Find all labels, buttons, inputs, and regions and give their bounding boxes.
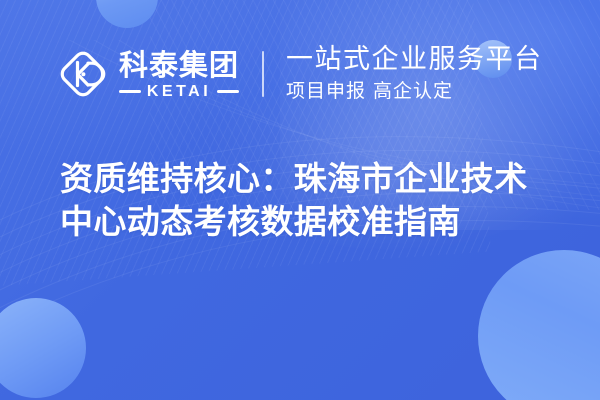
brand-name-en: KETAI xyxy=(147,84,211,100)
brand-rule-right xyxy=(217,90,239,93)
vertical-divider xyxy=(262,51,264,97)
brand-wordmark: 科泰集团 KETAI xyxy=(119,50,239,100)
promo-banner: 科泰集团 KETAI 一站式企业服务平台 项目申报 高企认定 资质维持核心：珠海… xyxy=(0,0,600,400)
tagline-primary: 一站式企业服务平台 xyxy=(286,44,543,76)
tagline-block: 一站式企业服务平台 项目申报 高企认定 xyxy=(286,44,543,104)
banner-header: 科泰集团 KETAI 一站式企业服务平台 项目申报 高企认定 xyxy=(0,0,600,148)
tagline-secondary: 项目申报 高企认定 xyxy=(286,78,543,104)
brand-name-cn: 科泰集团 xyxy=(119,50,239,80)
ketai-diamond-kd-logo-icon xyxy=(57,48,109,100)
brand-name-en-row: KETAI xyxy=(119,84,239,100)
article-title: 资质维持核心：珠海市企业技术中心动态考核数据校准指南 xyxy=(60,157,556,243)
brand-lockup[interactable]: 科泰集团 KETAI xyxy=(57,48,239,100)
brand-rule-left xyxy=(119,90,141,93)
